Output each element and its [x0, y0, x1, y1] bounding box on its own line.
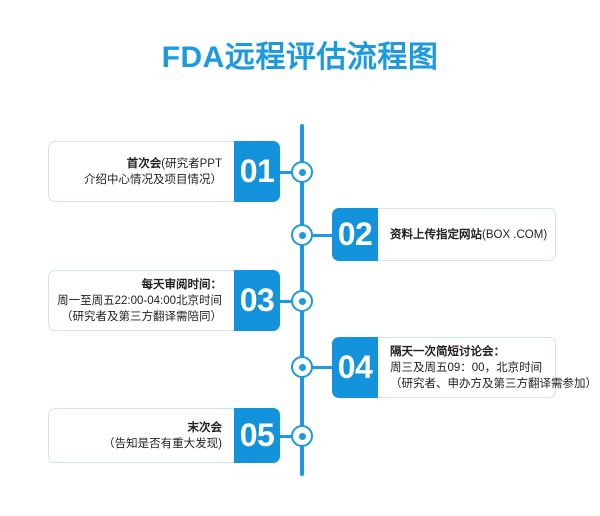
step-card-04-heading: 隔天一次简短讨论会： — [390, 344, 505, 360]
step-card-01-heading-suffix: (研究者PPT — [161, 158, 222, 170]
page-title: FDA远程评估流程图 — [0, 38, 600, 78]
step-card-02-body: 资料上传指定网站(BOX .COM) — [378, 208, 556, 261]
step-card-03-line-1: 周一至周五22:00-04:00北京时间 — [57, 293, 222, 309]
step-card-02-heading-suffix: (BOX .COM) — [482, 229, 547, 241]
step-number-02: 02 — [332, 208, 378, 261]
timeline-node-05[interactable] — [291, 425, 313, 447]
step-number-04: 04 — [332, 337, 378, 398]
step-card-02-heading: 资料上传指定网站 — [390, 229, 482, 241]
step-card-04[interactable]: 04 隔天一次简短讨论会： 周三及周五09：00，北京时间 （研究者、申办方及第… — [332, 337, 556, 398]
step-number-05: 05 — [234, 408, 280, 463]
step-number-01: 01 — [234, 141, 280, 202]
timeline-node-04[interactable] — [291, 356, 313, 378]
step-card-01-body: 首次会(研究者PPT 介绍中心情况及项目情况） — [48, 141, 234, 202]
step-card-01[interactable]: 首次会(研究者PPT 介绍中心情况及项目情况） 01 — [48, 141, 280, 202]
step-card-04-line-2: （研究者、申办方及第三方翻译需参加） — [390, 376, 597, 392]
step-card-04-body: 隔天一次简短讨论会： 周三及周五09：00，北京时间 （研究者、申办方及第三方翻… — [378, 337, 556, 398]
step-card-05[interactable]: 末次会 （告知是否有重大发现) 05 — [48, 408, 280, 463]
step-card-02[interactable]: 02 资料上传指定网站(BOX .COM) — [332, 208, 556, 261]
step-card-03-body: 每天审阅时间： 周一至周五22:00-04:00北京时间 （研究者及第三方翻译需… — [48, 270, 234, 331]
step-card-01-heading: 首次会 — [127, 158, 162, 170]
timeline-node-01[interactable] — [291, 161, 313, 183]
step-card-05-line-1: （告知是否有重大发现) — [103, 436, 222, 452]
step-card-03-heading: 每天审阅时间： — [142, 277, 223, 293]
timeline-node-03[interactable] — [291, 290, 313, 312]
timeline-node-02[interactable] — [291, 224, 313, 246]
step-card-04-line-1: 周三及周五09：00，北京时间 — [390, 360, 542, 376]
step-card-01-line-1: 介绍中心情况及项目情况） — [84, 172, 222, 188]
step-card-05-body: 末次会 （告知是否有重大发现) — [48, 408, 234, 463]
step-number-03: 03 — [234, 270, 280, 331]
step-card-05-heading: 末次会 — [188, 420, 223, 436]
step-card-03[interactable]: 每天审阅时间： 周一至周五22:00-04:00北京时间 （研究者及第三方翻译需… — [48, 270, 280, 331]
step-card-03-line-2: （研究者及第三方翻译需陪同） — [61, 309, 222, 325]
step-card-01-heading-row: 首次会(研究者PPT — [127, 156, 222, 172]
step-card-02-heading-row: 资料上传指定网站(BOX .COM) — [390, 227, 547, 243]
